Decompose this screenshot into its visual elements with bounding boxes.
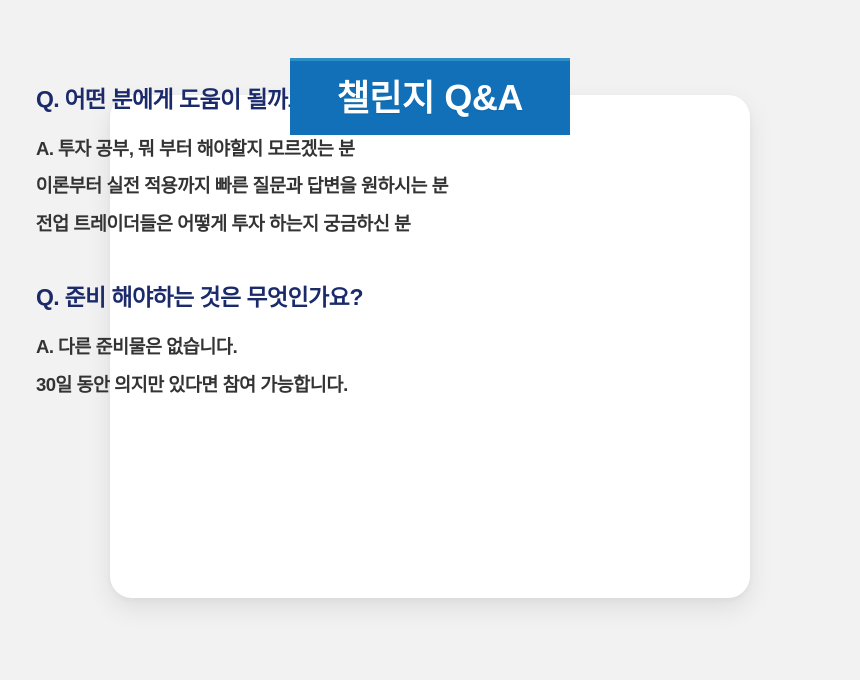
header-banner: 챌린지 Q&A xyxy=(290,58,570,135)
faq-answer-2-line-2: 30일 동안 의지만 있다면 참여 가능합니다. xyxy=(36,376,830,395)
faq-block-2: Q. 준비 해야하는 것은 무엇인가요? A. 다른 준비물은 없습니다. 30… xyxy=(36,283,830,394)
faq-answer-1-line-3: 전업 트레이더들은 어떻게 투자 하는지 궁금하신 분 xyxy=(36,215,830,234)
faq-answer-2-line-1: A. 다른 준비물은 없습니다. xyxy=(36,338,830,357)
faq-answer-1-line-1: A. 투자 공부, 뭐 부터 해야할지 모르겠는 분 xyxy=(36,140,830,159)
banner-title: 챌린지 Q&A xyxy=(337,80,523,116)
faq-answer-1-line-2: 이론부터 실전 적용까지 빠른 질문과 답변을 원하시는 분 xyxy=(36,177,830,196)
faq-question-2: Q. 준비 해야하는 것은 무엇인가요? xyxy=(36,283,830,312)
